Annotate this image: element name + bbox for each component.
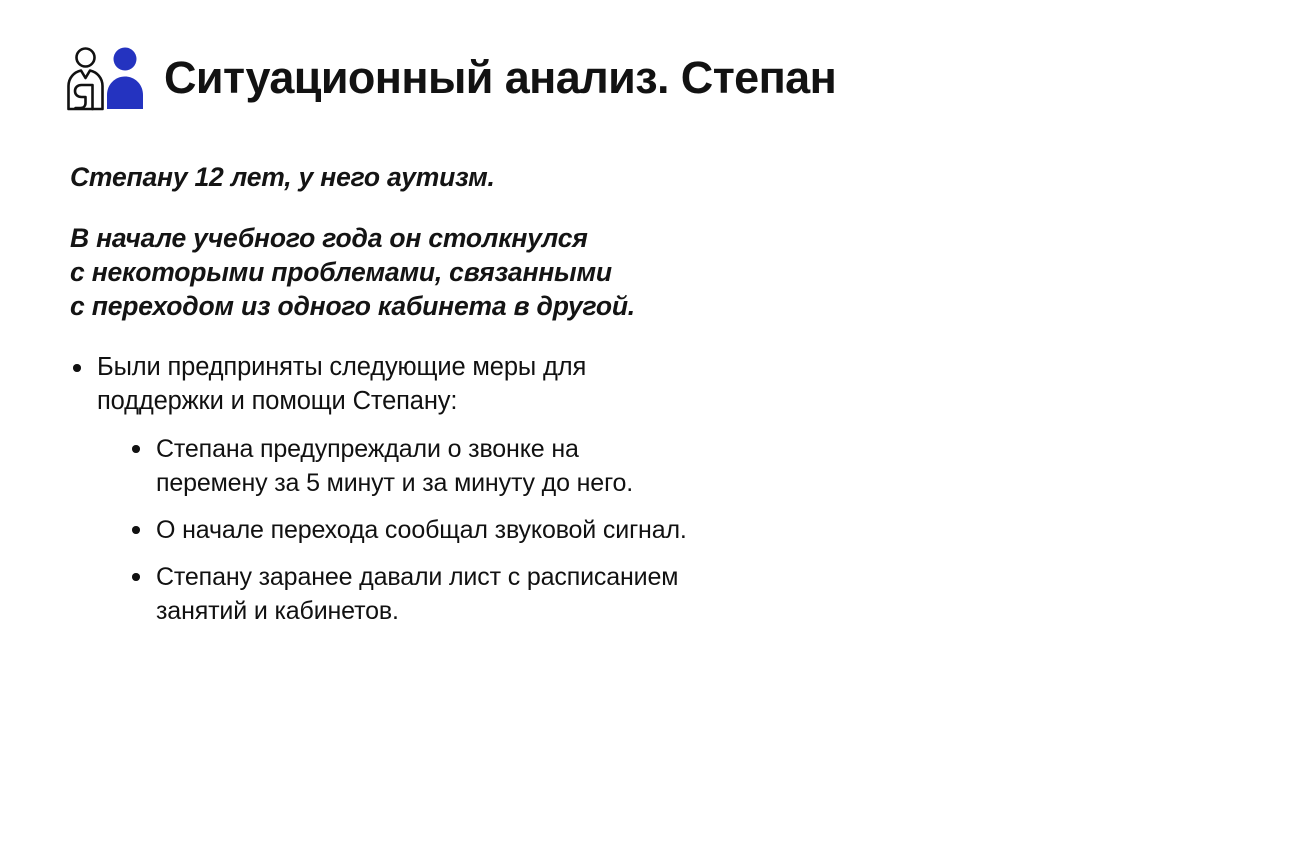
bullet-list: Были предприняты следующие меры для подд… bbox=[70, 350, 1030, 628]
sub-bullet-line: О начале перехода сообщал звуковой сигна… bbox=[156, 513, 1030, 547]
sub-bullet-line: Степану заранее давали лист с расписание… bbox=[156, 560, 1030, 594]
bullet-line: Были предприняты следующие меры для bbox=[97, 350, 1030, 384]
sub-bullet-line: занятий и кабинетов. bbox=[156, 594, 1030, 628]
lede-paragraph-2: В начале учебного года он столкнулся с н… bbox=[70, 221, 1030, 323]
list-item: Степану заранее давали лист с расписание… bbox=[129, 560, 1030, 628]
list-item: О начале перехода сообщал звуковой сигна… bbox=[129, 513, 1030, 547]
two-people-logo-icon bbox=[62, 45, 146, 111]
lede-line: с некоторыми проблемами, связанными bbox=[70, 255, 1030, 289]
slide-content: Степану 12 лет, у него аутизм. В начале … bbox=[70, 160, 1030, 638]
lede-line: с переходом из одного кабинета в другой. bbox=[70, 289, 1030, 323]
sub-bullet-line: Степана предупреждали о звонке на bbox=[156, 432, 1030, 466]
sub-bullet-line: перемену за 5 минут и за минуту до него. bbox=[156, 466, 1030, 500]
lede-line: В начале учебного года он столкнулся bbox=[70, 221, 1030, 255]
sub-bullet-list: Степана предупреждали о звонке на переме… bbox=[97, 432, 1030, 628]
slide: Ситуационный анализ. Степан Степану 12 л… bbox=[0, 0, 1290, 860]
bullet-line: поддержки и помощи Степану: bbox=[97, 384, 1030, 418]
page-title: Ситуационный анализ. Степан bbox=[164, 54, 836, 101]
lede-paragraph-1: Степану 12 лет, у него аутизм. bbox=[70, 160, 1030, 194]
list-item: Были предприняты следующие меры для подд… bbox=[70, 350, 1030, 628]
list-item: Степана предупреждали о звонке на переме… bbox=[129, 432, 1030, 500]
slide-header: Ситуационный анализ. Степан bbox=[62, 45, 836, 111]
